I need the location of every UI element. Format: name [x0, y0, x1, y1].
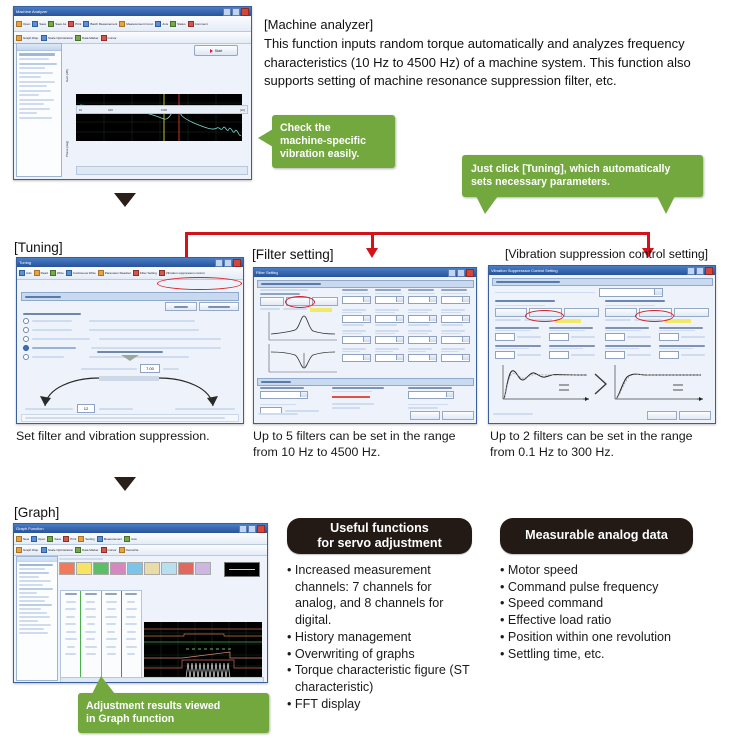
list-item: • Speed command [500, 595, 693, 612]
callout-tail [92, 676, 115, 694]
button-ok-vibration[interactable] [647, 411, 677, 420]
filter-column[interactable] [342, 289, 371, 362]
toolbar-item[interactable]: Comment [188, 17, 208, 30]
status-filter-on [310, 308, 332, 312]
input-res-damping[interactable] [549, 351, 569, 359]
toolbar-item-read[interactable]: Read [34, 268, 48, 278]
button-manual-setting[interactable] [564, 308, 599, 317]
section-label-vibration: [Vibration suppression control setting] [505, 247, 708, 261]
highlight-oval-toolbar [157, 277, 242, 290]
info-box-list: • Motor speed • Command pulse frequency … [500, 562, 693, 662]
graph-separator-arrow [594, 373, 607, 400]
toolbar-item[interactable]: Scale Optimization [41, 33, 73, 42]
toolbar-item[interactable]: Axis [155, 17, 168, 30]
dropdown[interactable] [441, 336, 470, 344]
button-help[interactable] [165, 302, 197, 311]
chevron-down-icon[interactable] [462, 297, 469, 302]
list-item: • Command pulse frequency [500, 579, 693, 596]
toolbar-item[interactable]: New [16, 534, 29, 543]
window-machine-analyzer[interactable]: Machine Analyzer Open Save Save As Print… [13, 6, 252, 180]
list-item: • History management [287, 629, 472, 646]
callout-adjustment-results: Adjustment results viewed in Graph funct… [78, 693, 269, 733]
toolbar2-graph[interactable]: Graph Disp. Scale Optimization Data Mark… [14, 545, 267, 556]
radio-icon[interactable] [23, 327, 29, 333]
play-icon [210, 49, 213, 53]
dropdown[interactable] [260, 391, 308, 399]
dropdown[interactable] [441, 296, 470, 304]
window-controls[interactable] [239, 525, 265, 533]
chevron-down-icon[interactable] [654, 289, 662, 295]
toolbar-item[interactable]: Print [63, 534, 76, 543]
window-controls[interactable] [223, 8, 249, 16]
chevron-down-icon[interactable] [429, 355, 436, 360]
dropdown[interactable] [375, 354, 404, 362]
window-graph-function[interactable]: Graph Function New Open Save Print Setti… [13, 523, 268, 683]
palette-swatch[interactable] [178, 562, 194, 575]
list-item: • Increased measurement channels: 7 chan… [287, 562, 472, 629]
dropdown[interactable] [408, 315, 437, 323]
chevron-down-icon[interactable] [462, 316, 469, 321]
chevron-down-icon[interactable] [363, 355, 370, 360]
button-manual-setting[interactable] [312, 297, 338, 306]
chevron-down-icon[interactable] [363, 297, 370, 302]
graph-sidebar[interactable] [16, 556, 58, 681]
filter-status-bar [258, 413, 298, 415]
palette-thumbnail[interactable] [224, 562, 260, 577]
chevron-down-icon[interactable] [396, 316, 403, 321]
responsiveness-gauge [25, 374, 233, 408]
chevron-down-icon[interactable] [363, 337, 370, 342]
responsiveness-field-row[interactable]: 12 [25, 404, 235, 413]
chevron-down-icon[interactable] [462, 355, 469, 360]
filter-column[interactable] [408, 289, 437, 362]
palette-swatch[interactable] [127, 562, 143, 575]
caption-tuning: Set filter and vibration suppression. [16, 428, 246, 444]
callout-tail [258, 129, 273, 147]
toolbar-item-axis[interactable]: Axis [19, 268, 32, 278]
list-item: • Overwriting of graphs [287, 646, 472, 663]
chevron-down-icon[interactable] [300, 392, 307, 397]
dropdown[interactable] [408, 336, 437, 344]
button-auto-setting[interactable] [605, 308, 637, 317]
dropdown[interactable] [408, 354, 437, 362]
highlight-oval-tuning-vib2 [635, 310, 674, 322]
responsiveness-input[interactable]: 12 [77, 404, 95, 413]
list-item: • Motor speed [500, 562, 693, 579]
callout-text: Adjustment results viewed in Graph funct… [86, 700, 220, 725]
vibration-group-1[interactable] [495, 300, 599, 359]
flow-arrow-down-1 [114, 193, 136, 207]
titlebar-graph-function[interactable]: Graph Function [14, 524, 267, 533]
info-box-measurable-analog-data: Measurable analog data • Motor speed • C… [500, 518, 693, 662]
intro-paragraph: This function inputs random torque autom… [264, 35, 724, 90]
titlebar-machine-analyzer[interactable]: Machine Analyzer [14, 7, 251, 16]
input-vib-damping[interactable] [495, 351, 515, 359]
filter-graph-characteristic [263, 312, 339, 342]
window-title: Tuning [19, 260, 31, 265]
input-resonance-frequency[interactable] [549, 333, 569, 341]
other-filter-header [257, 378, 474, 386]
palette-swatch[interactable] [93, 562, 109, 575]
window-controls[interactable] [215, 259, 241, 267]
toolbar-item-parameter-readout[interactable]: Parameter Readout [98, 268, 131, 278]
callout-check-vibration: Check the machine-specific vibration eas… [272, 115, 395, 168]
chevron-down-icon[interactable] [363, 316, 370, 321]
toolbar-item[interactable]: Data Marker [75, 546, 99, 554]
vibration-mode-selector-row[interactable] [495, 288, 711, 297]
window-title: Graph Function [16, 526, 44, 531]
toolbar-item-write[interactable]: Write [50, 268, 64, 278]
dropdown[interactable] [342, 315, 371, 323]
radio-row[interactable] [23, 336, 235, 342]
input-vibration-frequency[interactable] [605, 333, 625, 341]
toolbar-item[interactable]: Open [31, 534, 45, 543]
dropdown[interactable] [441, 315, 470, 323]
intro-text-block: [Machine analyzer] This function inputs … [264, 16, 724, 91]
input-resonance-frequency[interactable] [659, 333, 679, 341]
titlebar-vibration-suppression[interactable]: Vibration Suppression Control Setting [489, 266, 715, 275]
info-box-useful-functions: Useful functions for servo adjustment • … [287, 518, 472, 713]
graph-channel-columns[interactable] [60, 590, 142, 678]
chevron-down-icon[interactable] [396, 355, 403, 360]
section-label-tuning: [Tuning] [14, 240, 63, 255]
toolbar-item[interactable]: Save [32, 17, 46, 30]
dropdown[interactable] [375, 336, 404, 344]
toolbar-item[interactable]: Axis [124, 534, 137, 543]
button-manual-setting[interactable] [674, 308, 709, 317]
button-auto-setting[interactable] [495, 308, 527, 317]
callout-just-click-tuning: Just click [Tuning], which automatically… [462, 155, 703, 197]
radio-row[interactable] [23, 327, 235, 333]
start-button[interactable]: Start [194, 45, 238, 56]
vibration-group-2[interactable] [605, 300, 709, 359]
chevron-down-icon[interactable] [429, 337, 436, 342]
graph-waveform-chart [144, 622, 262, 683]
gain-plot-xaxis: 10 100 1000 [Hz] [76, 105, 248, 114]
button-cancel-vibration[interactable] [679, 411, 711, 420]
chevron-down-icon [121, 355, 139, 361]
palette-swatch[interactable] [144, 562, 160, 575]
palette-swatch[interactable] [161, 562, 177, 575]
toolbar-item[interactable]: Cursor [101, 33, 117, 42]
palette-swatch[interactable] [195, 562, 211, 575]
warning-text [332, 396, 370, 398]
filter-graph-notch [263, 344, 339, 376]
tuning-footer-note [21, 414, 239, 422]
list-item: • Settling time, etc. [500, 646, 693, 663]
filter-header-band [257, 280, 474, 288]
intro-heading: [Machine analyzer] [264, 16, 724, 34]
other-filter-body[interactable] [260, 387, 472, 415]
section-label-filter: [Filter setting] [252, 247, 334, 262]
button-update-project[interactable] [199, 302, 239, 311]
toolbar-item[interactable]: Save As [48, 17, 66, 30]
callout-tail-right [657, 196, 675, 214]
inertia-ratio-group[interactable]: 7.00 [65, 351, 195, 373]
dropdown[interactable] [342, 336, 371, 344]
window-vibration-suppression[interactable]: Vibration Suppression Control Setting [488, 265, 716, 424]
vibration-header-band [492, 278, 713, 286]
caption-vibration: Up to 2 filters can be set in the range … [490, 428, 720, 460]
toolbar-item[interactable]: Graph Disp. [16, 33, 39, 42]
dropdown[interactable] [342, 296, 371, 304]
window-tuning[interactable]: Tuning Axis Read Write Continuous Write … [16, 257, 244, 424]
radio-icon[interactable] [23, 318, 29, 324]
chevron-down-icon[interactable] [429, 297, 436, 302]
window-title: Filter Setting [256, 270, 278, 275]
toolbar-item[interactable]: Print [68, 17, 81, 30]
panel-measurement-settings[interactable] [16, 43, 62, 177]
input-vibration-frequency[interactable] [495, 333, 515, 341]
window-title: Vibration Suppression Control Setting [491, 268, 558, 273]
window-title: Machine Analyzer [16, 9, 48, 14]
toolbar-item[interactable]: Overwrite [119, 546, 139, 554]
palette-swatch[interactable] [59, 562, 75, 575]
toolbar-item[interactable]: Measurement [97, 534, 122, 543]
other-filter-middle[interactable] [332, 387, 398, 415]
list-item: • FFT display [287, 696, 472, 713]
toolbar-item[interactable]: Data Marker [75, 33, 99, 42]
toolbar-item[interactable]: Setting [78, 534, 94, 543]
list-item: • Torque characteristic figure (ST chara… [287, 662, 472, 695]
chevron-down-icon[interactable] [446, 392, 453, 397]
highlight-oval-tuning-vib1 [525, 310, 564, 322]
toolbar-item[interactable]: Measurement Cond. [119, 17, 153, 30]
phase-plot-scrollbar[interactable] [76, 166, 248, 175]
caption-filter: Up to 5 filters can be set in the range … [253, 428, 477, 460]
input-res-damping[interactable] [659, 351, 679, 359]
gain-plot-label: Gain [dB] [65, 69, 69, 82]
radio-icon-selected[interactable] [23, 345, 29, 351]
phase-plot-label: Phase [deg] [65, 141, 69, 157]
plot-gain [76, 94, 242, 141]
section-label-graph: [Graph] [14, 505, 59, 520]
button-ok-filter[interactable] [410, 411, 440, 420]
chevron-down-icon[interactable] [429, 316, 436, 321]
toolbar-item[interactable]: Status [170, 17, 186, 30]
palette-swatch[interactable] [76, 562, 92, 575]
dropdown[interactable] [375, 315, 404, 323]
flow-arrow-down-2 [114, 477, 136, 491]
connector-arrow-mid [366, 248, 378, 258]
input-vib-damping[interactable] [605, 351, 625, 359]
graph-vibration-off [497, 363, 593, 405]
titlebar-filter-setting[interactable]: Filter Setting [254, 268, 476, 277]
other-filter-left[interactable] [260, 387, 322, 415]
chevron-down-icon[interactable] [396, 337, 403, 342]
callout-tail-left [476, 196, 498, 214]
window-controls[interactable] [687, 267, 713, 275]
list-item: • Position within one revolution [500, 629, 693, 646]
highlight-oval-tuning-filter [285, 296, 315, 308]
window-controls[interactable] [448, 269, 474, 277]
toolbar-machine-analyzer[interactable]: Open Save Save As Print Batch Measuremen… [14, 16, 251, 32]
inertia-ratio-input[interactable]: 7.00 [140, 364, 160, 373]
window-filter-setting[interactable]: Filter Setting [253, 267, 477, 424]
toolbar-item[interactable]: Graph Disp. [16, 546, 39, 554]
list-item: • Effective load ratio [500, 612, 693, 629]
callout-text: Check the machine-specific vibration eas… [280, 122, 366, 160]
dropdown[interactable] [408, 391, 454, 399]
filter-column[interactable] [441, 289, 470, 362]
toolbar-item[interactable]: Scale Optimization [41, 546, 73, 554]
toolbar-item[interactable]: Save [47, 534, 61, 543]
graph-vibration-on [609, 363, 707, 405]
toolbar-item[interactable]: Open [16, 17, 30, 30]
titlebar-tuning[interactable]: Tuning [17, 258, 243, 267]
toolbar-item[interactable]: Cursor [101, 546, 117, 554]
chevron-down-icon[interactable] [396, 297, 403, 302]
toolbar-item[interactable]: Batch Measurement [83, 17, 117, 30]
callout-text: Just click [Tuning], which automatically… [471, 163, 670, 188]
tuning-section-header [21, 292, 239, 301]
toolbar-item-continuous-write[interactable]: Continuous Write [66, 268, 96, 278]
connector-line-h [185, 232, 650, 235]
radio-icon[interactable] [23, 354, 29, 360]
dropdown[interactable] [375, 296, 404, 304]
toolbar-item-filter-setting[interactable]: Filter Setting [133, 268, 157, 278]
info-box-title: Useful functions for servo adjustment [287, 518, 472, 554]
filter-column[interactable] [375, 289, 404, 362]
graph-palette-row[interactable] [59, 558, 264, 577]
filter-parameter-columns[interactable] [342, 289, 470, 362]
radio-row[interactable] [23, 318, 235, 324]
button-cancel-filter[interactable] [442, 411, 474, 420]
button-auto-setting[interactable] [260, 297, 284, 306]
chevron-down-icon[interactable] [462, 337, 469, 342]
toolbar-graph[interactable]: New Open Save Print Setting Measurement … [14, 533, 267, 545]
graph-xaxis-scrollbar[interactable] [60, 677, 264, 683]
info-box-list: • Increased measurement channels: 7 chan… [287, 562, 472, 713]
info-box-title: Measurable analog data [500, 518, 693, 554]
dropdown[interactable] [342, 354, 371, 362]
radio-icon[interactable] [23, 336, 29, 342]
palette-swatch[interactable] [110, 562, 126, 575]
dropdown-mode-selection[interactable] [599, 288, 663, 297]
vibration-status-bar [493, 413, 533, 415]
dropdown[interactable] [408, 296, 437, 304]
dropdown[interactable] [441, 354, 470, 362]
